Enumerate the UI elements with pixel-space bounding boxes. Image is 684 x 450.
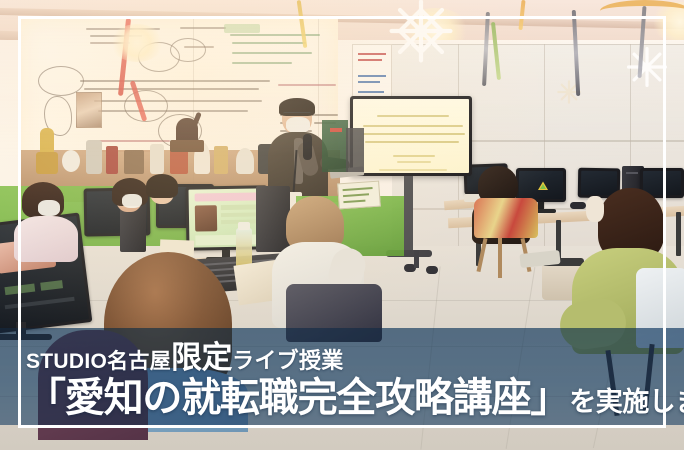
- figurine: [86, 140, 102, 174]
- bottle-cap: [238, 222, 250, 230]
- spiral-streamer: [600, 0, 684, 22]
- computer-mouse: [570, 202, 586, 209]
- pendant-light: [110, 24, 164, 62]
- cabinet: [346, 128, 364, 172]
- title-line1-part-a: STUDIO名古屋: [26, 350, 171, 373]
- presentation-display: [350, 96, 472, 176]
- face-mask: [38, 200, 60, 216]
- title-line2-suffix: を実施しました。: [569, 387, 684, 417]
- pinned-photo: [76, 92, 102, 128]
- chair-casters: [404, 250, 444, 274]
- figurine: [214, 146, 228, 174]
- slide-content: [353, 99, 469, 173]
- speech-bubble: [170, 38, 206, 62]
- office-chair: [474, 198, 538, 238]
- figurine: [150, 144, 164, 174]
- desktop-monitor: [516, 168, 566, 202]
- desktop-tower: [256, 186, 290, 252]
- title-line2-course-name: 「愛知の就転職完全攻略講座」: [26, 376, 569, 420]
- title-line1-emphasis: 限定: [171, 340, 232, 375]
- figurine: [62, 150, 80, 172]
- display-stand: [404, 176, 413, 254]
- snowflake-ornament: [624, 44, 670, 90]
- title-line1-part-c: ライブ授業: [232, 348, 344, 373]
- hair: [146, 174, 178, 198]
- title-line-1: STUDIO名古屋限定ライブ授業: [26, 342, 684, 373]
- desk-leg: [676, 212, 681, 256]
- face-mask: [286, 117, 310, 133]
- figurine: [106, 146, 118, 174]
- box: [124, 150, 144, 174]
- shelf-block: [170, 140, 204, 152]
- face-mask: [586, 196, 604, 222]
- face-mask: [122, 194, 142, 208]
- microphone: [303, 134, 312, 160]
- logo-icon: [536, 180, 550, 192]
- title-line-2: 「愛知の就転職完全攻略講座」を実施しました。: [26, 378, 684, 418]
- paper-sign: [337, 181, 381, 210]
- title-block: STUDIO名古屋限定ライブ授業 「愛知の就転職完全攻略講座」を実施しました。: [0, 328, 684, 425]
- banner-image: STUDIO名古屋限定ライブ授業 「愛知の就転職完全攻略講座」を実施しました。: [0, 0, 684, 450]
- monitor-content: [188, 188, 265, 247]
- snowflake-ornament: [386, 0, 456, 66]
- trophy-base: [36, 152, 58, 174]
- figurine: [236, 148, 254, 174]
- label: [330, 128, 342, 132]
